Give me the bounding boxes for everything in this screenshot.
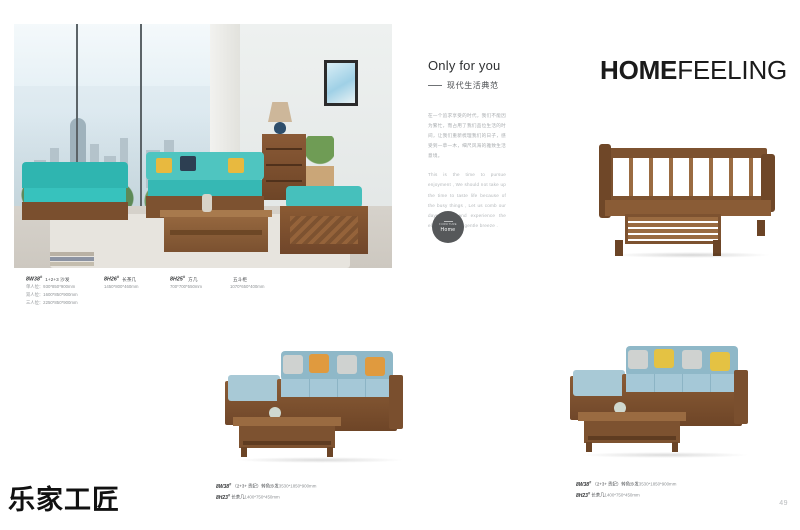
sofa-chaise-slats xyxy=(625,214,721,244)
spec-code-text: 8H26 xyxy=(104,277,117,283)
spec-column: 8W38#1+2+3 沙发 单人位：930*850*900mm 双人位：1600… xyxy=(26,274,104,308)
hero-room-photo xyxy=(14,24,392,268)
spec-column: 8H26#长茶几 1450*800*460mm xyxy=(104,274,170,308)
sofa-seat-cushions xyxy=(626,374,738,392)
spec-hash: # xyxy=(229,482,231,486)
sofa-leg xyxy=(757,220,765,236)
spec-code: 8H23# xyxy=(576,493,590,499)
spec-block-bottom-right: 8W38# （2+3+ 贵妃）转角沙发3530*1850*900mm 8H23#… xyxy=(576,479,676,501)
spec-code-text: 8H23 xyxy=(216,495,228,501)
throw-pillow xyxy=(180,156,196,171)
spec-row: 8W38# （2+3+ 贵妃）转角沙发3530*1850*900mm xyxy=(576,479,676,490)
spec-name: 长茶几 xyxy=(122,277,136,282)
spec-block-bottom-left: 8W38# （2+3+ 贵妃）转角沙发3530*1850*900mm 8H23#… xyxy=(216,481,316,503)
sofa-arm xyxy=(389,375,403,429)
throw-pillow xyxy=(309,354,329,373)
throw-pillow xyxy=(682,350,702,369)
spec-code: 8W38# xyxy=(576,482,591,488)
spec-code: 五斗柜 xyxy=(230,274,300,283)
intro-text-column: Only for you 现代生活典范 在一个追求享受的时代，我们不能因为繁忙，… xyxy=(428,58,506,231)
round-stamp-badge: FURNITURE Home xyxy=(432,211,464,243)
spec-code: 8W38#1+2+3 沙发 xyxy=(26,274,104,283)
throw-pillow xyxy=(628,350,648,369)
intro-title: Only for you xyxy=(428,58,506,73)
wall-art-frame xyxy=(324,60,358,106)
spec-dimension: 1450*800*460mm xyxy=(104,283,170,291)
spec-dimension: 700*700*550mm xyxy=(170,283,230,291)
armchair-teal xyxy=(280,186,368,254)
product-shadow xyxy=(611,252,771,258)
coffee-table xyxy=(164,210,268,252)
spec-hash: # xyxy=(183,274,185,279)
sofa-top-rail xyxy=(607,148,767,158)
spec-dimension: 3530*1850*900mm xyxy=(279,484,317,489)
coffee-table xyxy=(578,412,686,452)
product-shadow xyxy=(235,457,405,463)
spec-hash: # xyxy=(589,480,591,484)
spec-code: 8H23# xyxy=(216,495,230,501)
sky xyxy=(14,24,214,86)
spec-column: 8H25#方几 700*700*550mm xyxy=(170,274,230,308)
spec-column: 五斗柜 1070*650*400mm xyxy=(230,274,300,308)
throw-pillow xyxy=(228,158,244,173)
spec-dimension: 1070*650*400mm xyxy=(230,283,300,291)
stamp-small-text: FURNITURE xyxy=(439,223,457,226)
window-mullion xyxy=(140,24,142,206)
throw-pillow xyxy=(283,355,303,374)
loveseat-teal xyxy=(22,162,128,220)
spec-dimension: 3530*1850*900mm xyxy=(639,482,677,487)
throw-pillow xyxy=(654,349,674,368)
stacked-books xyxy=(50,252,94,266)
stamp-big-text: Home xyxy=(441,227,456,233)
product-shadow xyxy=(580,452,750,458)
spec-dimension: 1400*750*450mm xyxy=(245,495,280,500)
table-lamp-base xyxy=(274,122,286,134)
spec-block-top: 8W38#1+2+3 沙发 单人位：930*850*900mm 双人位：1600… xyxy=(26,274,326,308)
product-photo-wood-frame-sofa xyxy=(585,140,785,270)
brand-logo: 乐家工匠 xyxy=(8,478,120,517)
spec-row: 8H23# 长茶几1400*750*450mm xyxy=(216,492,316,503)
spec-code-text: 8H23 xyxy=(576,493,588,499)
throw-pillow xyxy=(365,357,385,376)
catalog-page: 8W38#1+2+3 沙发 单人位：930*850*900mm 双人位：1600… xyxy=(0,0,800,530)
coffee-table xyxy=(233,417,341,457)
spec-dimension: 双人位：1600*850*900mm xyxy=(26,291,104,299)
spec-code: 8H26#长茶几 xyxy=(104,274,170,283)
throw-pillow xyxy=(337,355,357,374)
potted-plant xyxy=(306,136,334,188)
spec-hash: # xyxy=(228,493,230,497)
spec-name: （2+3+ 贵妃）转角沙发 xyxy=(592,482,638,487)
vase xyxy=(202,194,212,212)
spec-code: 8W38# xyxy=(216,484,231,490)
spec-name: 长茶几 xyxy=(591,493,604,498)
brand-bold: HOME xyxy=(600,55,677,85)
spec-hash: # xyxy=(588,491,590,495)
spec-code-text: 8W38 xyxy=(216,484,229,490)
spec-code-text: 8W38 xyxy=(26,277,40,283)
spec-name: 长茶几 xyxy=(231,495,244,500)
spec-dimension: 单人位：930*850*900mm xyxy=(26,283,104,291)
intro-subtitle-row: 现代生活典范 xyxy=(428,80,506,91)
sofa-arm xyxy=(734,370,748,424)
spec-name: 五斗柜 xyxy=(233,277,247,282)
throw-pillow xyxy=(710,352,730,371)
intro-subtitle: 现代生活典范 xyxy=(447,80,499,91)
throw-pillow xyxy=(156,158,172,173)
spec-code: 8H25#方几 xyxy=(170,274,230,283)
product-photo-sectional-left xyxy=(225,345,425,465)
chaise-cushion xyxy=(573,370,625,396)
product-photo-sectional-right xyxy=(570,340,775,465)
spec-name: 1+2+3 沙发 xyxy=(45,277,69,282)
sofa-seat-cushions xyxy=(281,379,393,397)
spec-code-text: 8W38 xyxy=(576,482,589,488)
page-title: HOMEFEELING xyxy=(600,55,787,86)
dash-rule-icon xyxy=(428,85,442,86)
spec-dimension: 三人位：2250*850*900mm xyxy=(26,299,104,307)
stamp-rule-icon xyxy=(444,221,453,222)
spec-code-text: 8H25 xyxy=(170,277,183,283)
spec-row: 8H23# 长茶几1400*750*450mm xyxy=(576,490,676,501)
intro-paragraph-cn: 在一个追求享受的时代，我们不能因为繁忙，而占用了我们品位生活的时间，让我们重新梳… xyxy=(428,111,506,160)
spec-name: 方几 xyxy=(188,277,197,282)
spec-hash: # xyxy=(40,274,42,279)
spec-row: 8W38# （2+3+ 贵妃）转角沙发3530*1850*900mm xyxy=(216,481,316,492)
spec-dimension: 1400*750*450mm xyxy=(605,493,640,498)
brand-light: FEELING xyxy=(677,55,787,85)
chaise-cushion xyxy=(228,375,280,401)
page-number: 49 xyxy=(779,500,788,507)
spec-hash: # xyxy=(117,274,119,279)
spec-name: （2+3+ 贵妃）转角沙发 xyxy=(232,484,278,489)
